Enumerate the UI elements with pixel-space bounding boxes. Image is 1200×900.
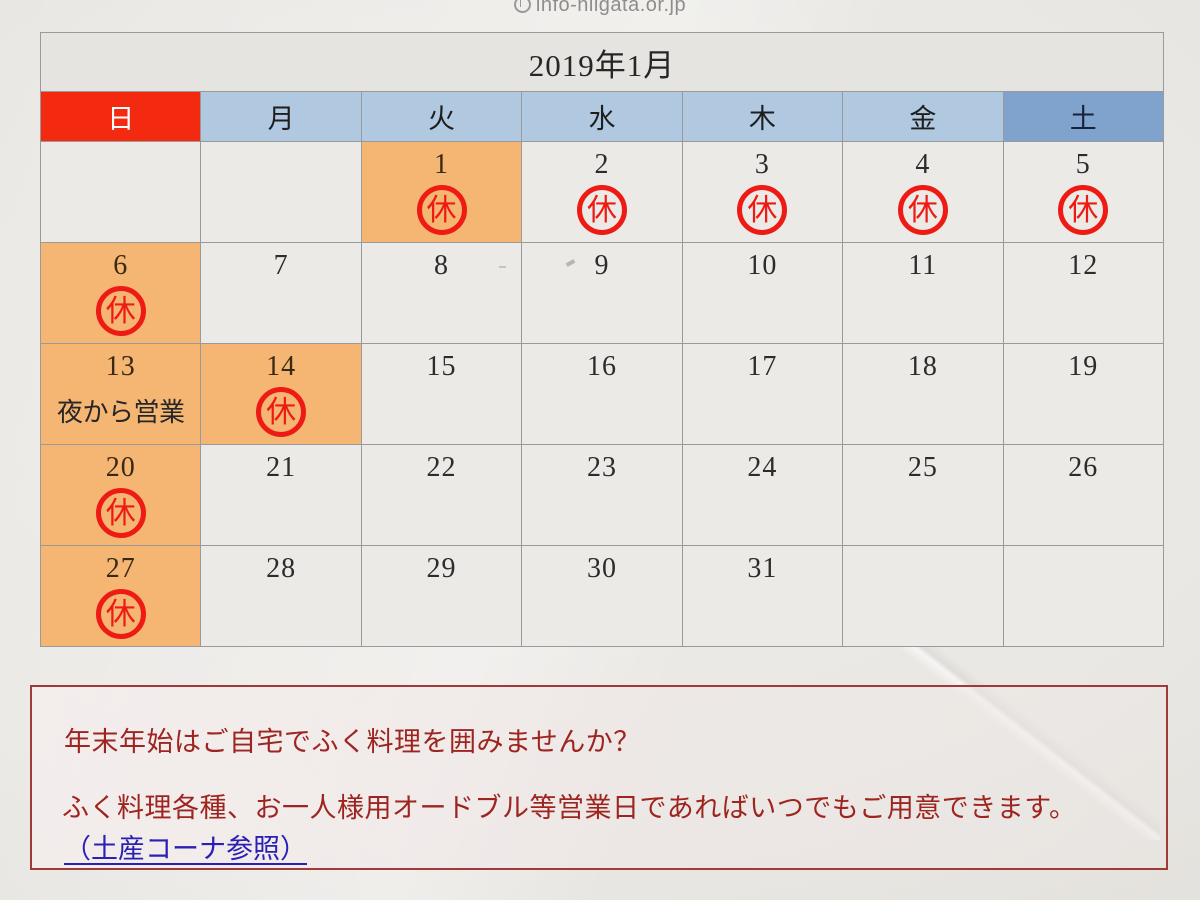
closed-stamp-icon: 休 (898, 185, 948, 235)
day-number: 21 (201, 445, 360, 482)
day-number: 6 (41, 243, 200, 280)
calendar-empty-cell (41, 142, 201, 243)
calendar: 2019年1月 日 月 火 水 木 金 土 1休2休3休4休5休6休789101… (40, 32, 1164, 647)
calendar-day-cell[interactable]: 26 (1003, 445, 1163, 546)
weekday-header-row: 日 月 火 水 木 金 土 (41, 92, 1164, 142)
calendar-day-cell[interactable]: 18 (843, 344, 1003, 445)
day-note: 夜から営業 (41, 392, 200, 429)
calendar-day-cell[interactable]: 28 (201, 546, 361, 647)
closed-stamp-icon: 休 (96, 589, 146, 639)
notice-line-2: ふく料理各種、お一人様用オードブル等営業日であればいつでもご用意できます。 (62, 786, 1077, 825)
calendar-day-cell[interactable]: 31 (682, 546, 842, 647)
cropped-url-line: info-niigata.or.jp (0, 0, 1200, 17)
calendar-day-cell[interactable]: 12 (1003, 243, 1163, 344)
closed-stamp-icon: 休 (1058, 185, 1108, 235)
calendar-title: 2019年1月 (41, 33, 1164, 92)
calendar-day-cell[interactable]: 15 (361, 344, 521, 445)
day-number: 17 (683, 344, 842, 381)
day-number: 31 (683, 546, 842, 583)
day-number: 2 (522, 142, 681, 179)
day-number: 25 (843, 445, 1002, 482)
calendar-day-cell[interactable]: 9 (522, 243, 682, 344)
calendar-day-cell[interactable]: 25 (843, 445, 1003, 546)
closed-stamp-icon: 休 (96, 488, 146, 538)
calendar-day-cell[interactable]: 23 (522, 445, 682, 546)
calendar-day-cell[interactable]: 5休 (1003, 142, 1163, 243)
calendar-day-cell[interactable]: 10 (682, 243, 842, 344)
calendar-day-cell[interactable]: 6休 (41, 243, 201, 344)
day-number: 13 (41, 344, 200, 381)
day-number: 8 (362, 243, 521, 280)
weekday-header-saturday: 土 (1003, 92, 1163, 142)
calendar-week-row: 6休789101112 (41, 243, 1164, 344)
day-number: 16 (522, 344, 681, 381)
day-number: 15 (362, 344, 521, 381)
closed-stamp-icon: 休 (96, 286, 146, 336)
calendar-day-cell[interactable]: 17 (682, 344, 842, 445)
day-number: 22 (362, 445, 521, 482)
day-number: 26 (1004, 445, 1163, 482)
day-number: 14 (201, 344, 360, 381)
url-text: info-niigata.or.jp (536, 0, 686, 16)
day-number: 11 (843, 243, 1002, 280)
souvenir-corner-link[interactable]: （土産コーナ参照） (64, 827, 307, 866)
day-number: 12 (1004, 243, 1163, 280)
info-circle-icon (514, 0, 531, 13)
calendar-week-row: 13夜から営業14休1516171819 (41, 344, 1164, 445)
notice-box: 年末年始はご自宅でふく料理を囲みませんか？ ふく料理各種、お一人様用オードブル等… (30, 685, 1168, 870)
calendar-day-cell[interactable]: 30 (522, 546, 682, 647)
day-number: 18 (843, 344, 1002, 381)
day-number: 30 (522, 546, 681, 583)
calendar-day-cell[interactable]: 1休 (361, 142, 521, 243)
calendar-day-cell[interactable]: 11 (843, 243, 1003, 344)
day-number: 4 (843, 142, 1002, 179)
calendar-empty-cell (1003, 546, 1163, 647)
day-number: 24 (683, 445, 842, 482)
calendar-day-cell[interactable]: 19 (1003, 344, 1163, 445)
calendar-body: 1休2休3休4休5休6休78910111213夜から営業14休151617181… (41, 142, 1164, 647)
calendar-day-cell[interactable]: 24 (682, 445, 842, 546)
day-number: 5 (1004, 142, 1163, 179)
day-number: 27 (41, 546, 200, 583)
calendar-empty-cell (843, 546, 1003, 647)
closed-stamp-icon: 休 (417, 185, 467, 235)
weekday-header-sunday: 日 (41, 92, 201, 142)
calendar-week-row: 27休28293031 (41, 546, 1164, 647)
calendar-week-row: 1休2休3休4休5休 (41, 142, 1164, 243)
closed-stamp-icon: 休 (737, 185, 787, 235)
calendar-day-cell[interactable]: 27休 (41, 546, 201, 647)
calendar-day-cell[interactable]: 4休 (843, 142, 1003, 243)
day-number: 10 (683, 243, 842, 280)
calendar-day-cell[interactable]: 21 (201, 445, 361, 546)
weekday-header-monday: 月 (201, 92, 361, 142)
calendar-day-cell[interactable]: 16 (522, 344, 682, 445)
day-number: 29 (362, 546, 521, 583)
calendar-day-cell[interactable]: 22 (361, 445, 521, 546)
day-number: 3 (683, 142, 842, 179)
calendar-week-row: 20休212223242526 (41, 445, 1164, 546)
weekday-header-tuesday: 火 (361, 92, 521, 142)
day-number: 9 (522, 243, 681, 280)
weekday-header-thursday: 木 (682, 92, 842, 142)
calendar-day-cell[interactable]: 2休 (522, 142, 682, 243)
notice-line-1: 年末年始はご自宅でふく料理を囲みませんか？ (64, 720, 641, 759)
calendar-title-row: 2019年1月 (41, 33, 1164, 92)
calendar-table: 2019年1月 日 月 火 水 木 金 土 1休2休3休4休5休6休789101… (40, 32, 1164, 647)
weekday-header-friday: 金 (843, 92, 1003, 142)
calendar-day-cell[interactable]: 14休 (201, 344, 361, 445)
day-number: 28 (201, 546, 360, 583)
day-number: 20 (41, 445, 200, 482)
closed-stamp-icon: 休 (256, 387, 306, 437)
calendar-day-cell[interactable]: 13夜から営業 (41, 344, 201, 445)
calendar-day-cell[interactable]: 8 (361, 243, 521, 344)
day-number: 19 (1004, 344, 1163, 381)
day-number: 23 (522, 445, 681, 482)
closed-stamp-icon: 休 (577, 185, 627, 235)
calendar-day-cell[interactable]: 29 (361, 546, 521, 647)
calendar-day-cell[interactable]: 7 (201, 243, 361, 344)
weekday-header-wednesday: 水 (522, 92, 682, 142)
day-number: 7 (201, 243, 360, 280)
calendar-day-cell[interactable]: 3休 (682, 142, 842, 243)
day-number: 1 (362, 142, 521, 179)
calendar-day-cell[interactable]: 20休 (41, 445, 201, 546)
calendar-empty-cell (201, 142, 361, 243)
